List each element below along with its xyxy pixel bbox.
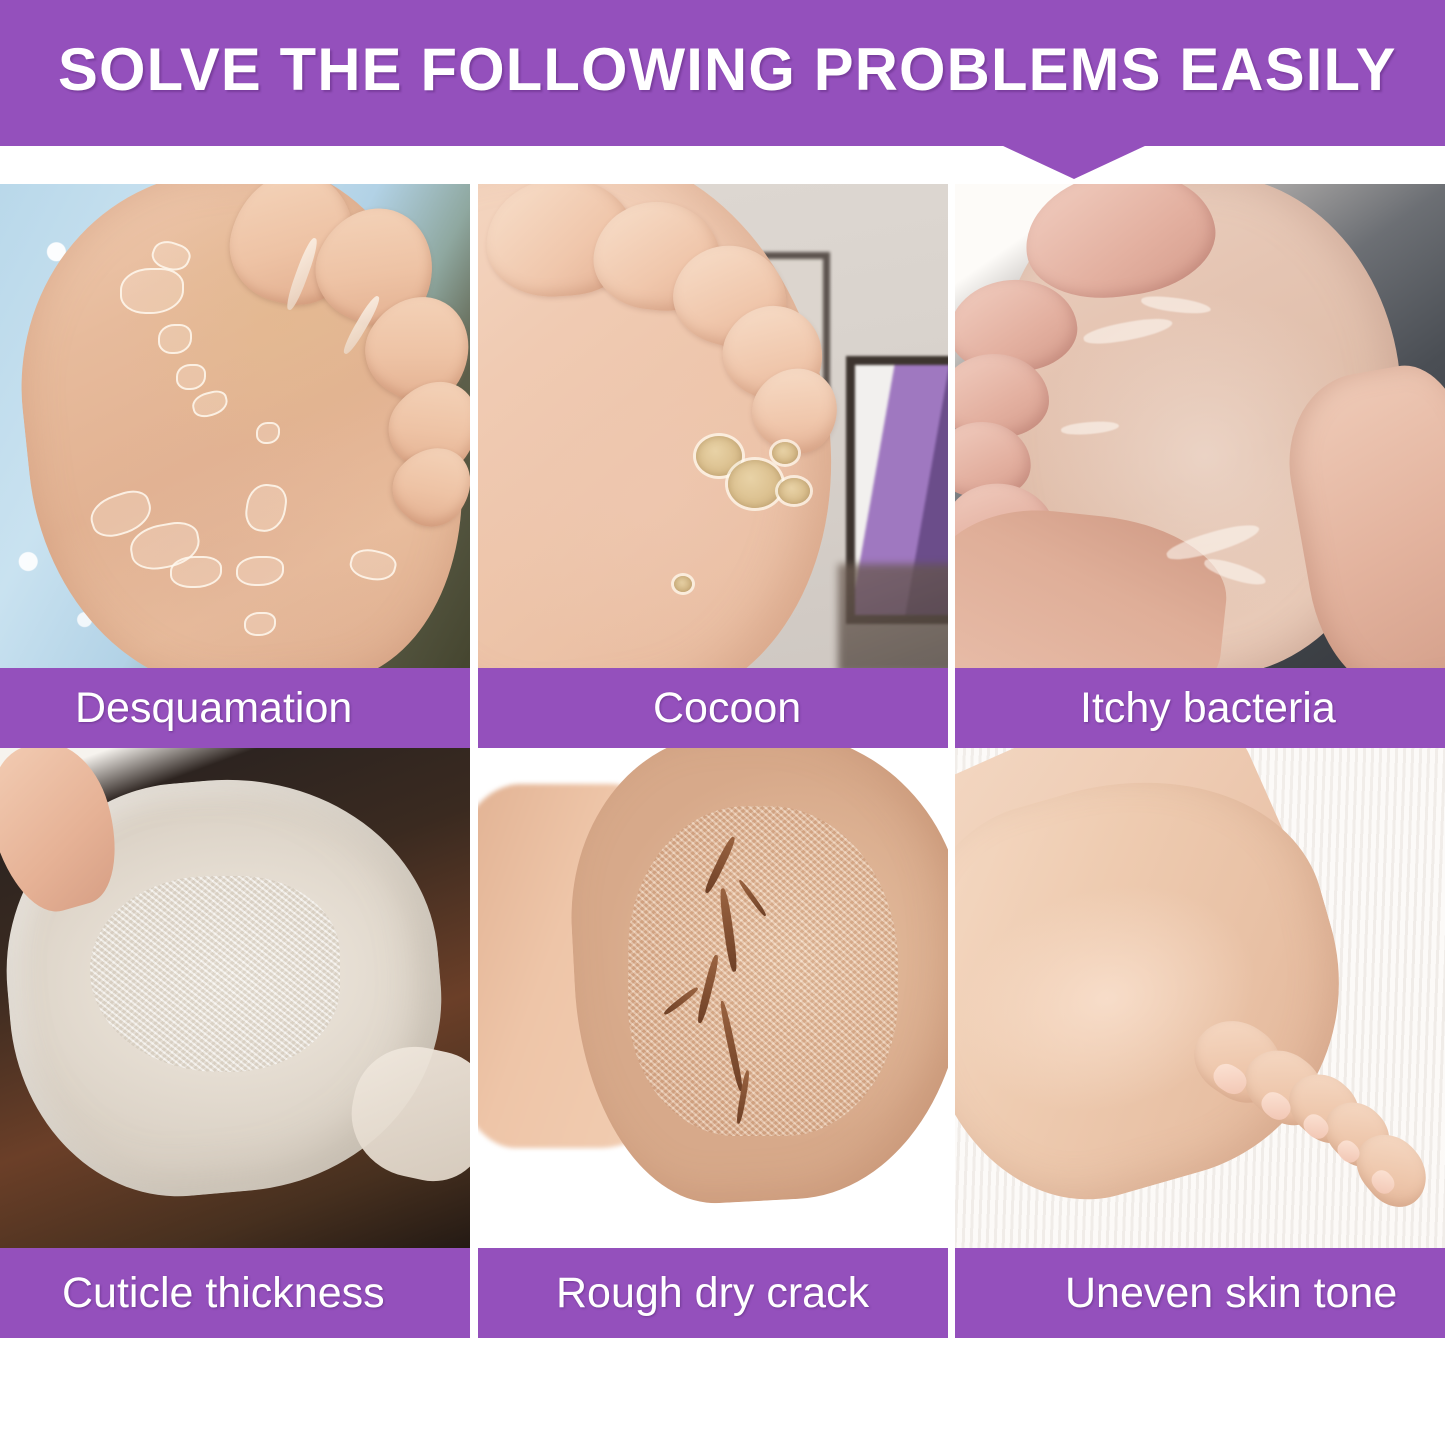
dry-skin-texture [628,806,898,1136]
photo-desquamation [0,184,470,668]
problem-cell-itchy-bacteria: Itchy bacteria [955,184,1445,748]
problem-label: Uneven skin tone [955,1269,1397,1317]
problem-cell-rough-dry-crack: Rough dry crack [478,748,948,1338]
problem-label: Cocoon [478,684,801,732]
label-bar-rough-dry-crack: Rough dry crack [478,1248,948,1338]
callus-spot [772,442,798,464]
problem-cell-desquamation: Desquamation [0,184,470,748]
problem-label: Rough dry crack [478,1269,869,1317]
header-banner: SOLVE THE FOLLOWING PROBLEMS EASILY [0,0,1445,146]
photo-cocoon [478,184,948,668]
problem-label: Cuticle thickness [0,1269,385,1317]
label-bar-cuticle-thickness: Cuticle thickness [0,1248,470,1338]
callus-spot [778,478,810,504]
down-caret-notch-icon [1001,145,1147,179]
photo-cuticle-thickness [0,748,470,1248]
label-bar-desquamation: Desquamation [0,668,470,748]
furniture-shadow [838,564,948,668]
problem-label: Desquamation [0,684,352,732]
callus-spot [674,576,692,592]
problem-cell-cocoon: Cocoon [478,184,948,748]
callus-spot [728,460,782,508]
photo-uneven-skin-tone [955,748,1445,1248]
grid-row-2: Cuticle thickness [0,748,1445,1338]
page-title: SOLVE THE FOLLOWING PROBLEMS EASILY [58,33,1391,107]
problem-label: Itchy bacteria [955,684,1336,732]
product-feature-image: SOLVE THE FOLLOWING PROBLEMS EASILY [0,0,1445,1445]
problem-cell-uneven-skin-tone: Uneven skin tone [955,748,1445,1338]
problem-grid: Desquamation [0,184,1445,1338]
problem-cell-cuticle-thickness: Cuticle thickness [0,748,470,1338]
label-bar-cocoon: Cocoon [478,668,948,748]
label-bar-itchy-bacteria: Itchy bacteria [955,668,1445,748]
grid-row-1: Desquamation [0,184,1445,748]
label-bar-uneven-skin-tone: Uneven skin tone [955,1248,1445,1338]
photo-rough-dry-crack [478,748,948,1248]
photo-itchy-bacteria [955,184,1445,668]
